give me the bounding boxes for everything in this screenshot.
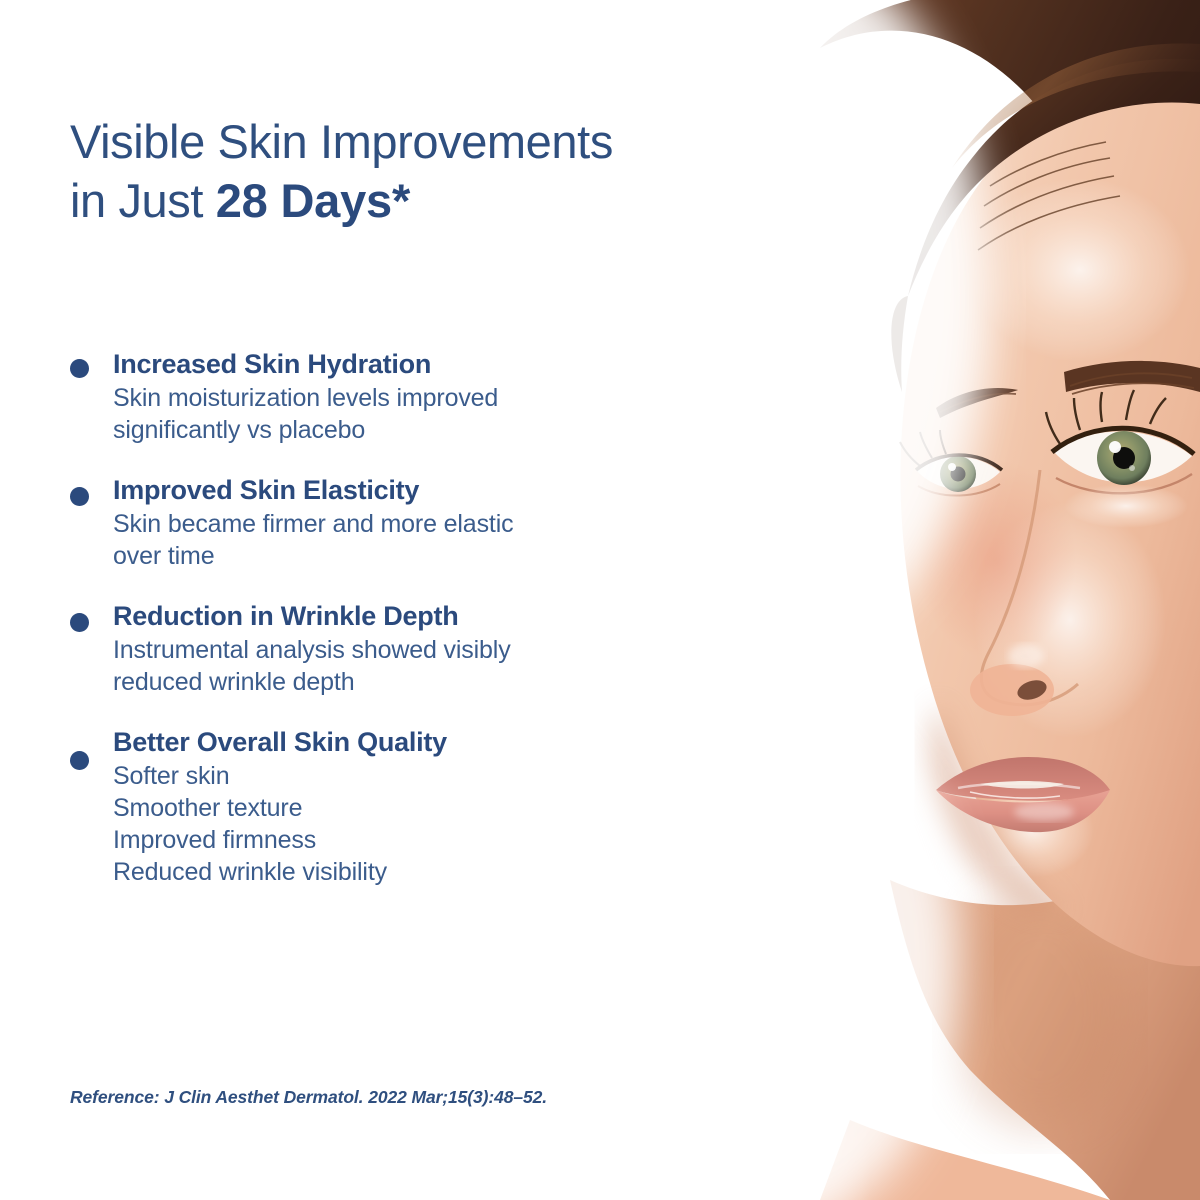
list-item: Improved Skin Elasticity Skin became fir… — [70, 474, 710, 572]
list-item: Reduction in Wrinkle Depth Instrumental … — [70, 600, 710, 698]
headline-line-2-prefix: in Just — [70, 174, 216, 227]
infographic-canvas: Visible Skin Improvementsin Just 28 Days… — [0, 0, 1200, 1200]
benefit-title: Increased Skin Hydration — [113, 348, 710, 381]
list-item: Increased Skin Hydration Skin moisturiza… — [70, 348, 710, 446]
benefits-list: Increased Skin Hydration Skin moisturiza… — [70, 348, 710, 888]
headline-line-1: Visible Skin Improvements — [70, 115, 613, 168]
list-item: Better Overall Skin Quality Softer skin … — [70, 726, 710, 888]
page-title: Visible Skin Improvementsin Just 28 Days… — [70, 112, 770, 230]
benefit-title: Reduction in Wrinkle Depth — [113, 600, 710, 633]
benefit-title: Improved Skin Elasticity — [113, 474, 710, 507]
bullet-dot-icon — [70, 613, 89, 632]
bullet-dot-icon — [70, 359, 89, 378]
benefit-description: Skin became firmer and more elastic over… — [113, 508, 710, 572]
benefit-description: Skin moisturization levels improved sign… — [113, 382, 710, 446]
reference-citation: Reference: J Clin Aesthet Dermatol. 2022… — [70, 1087, 547, 1108]
headline-emphasis: 28 Days* — [216, 174, 410, 227]
text-column: Visible Skin Improvementsin Just 28 Days… — [70, 0, 770, 1200]
bullet-dot-icon — [70, 751, 89, 770]
bullet-dot-icon — [70, 487, 89, 506]
benefit-title: Better Overall Skin Quality — [113, 726, 710, 759]
benefit-description: Softer skin Smoother texture Improved fi… — [113, 760, 710, 888]
benefit-description: Instrumental analysis showed visibly red… — [113, 634, 710, 698]
